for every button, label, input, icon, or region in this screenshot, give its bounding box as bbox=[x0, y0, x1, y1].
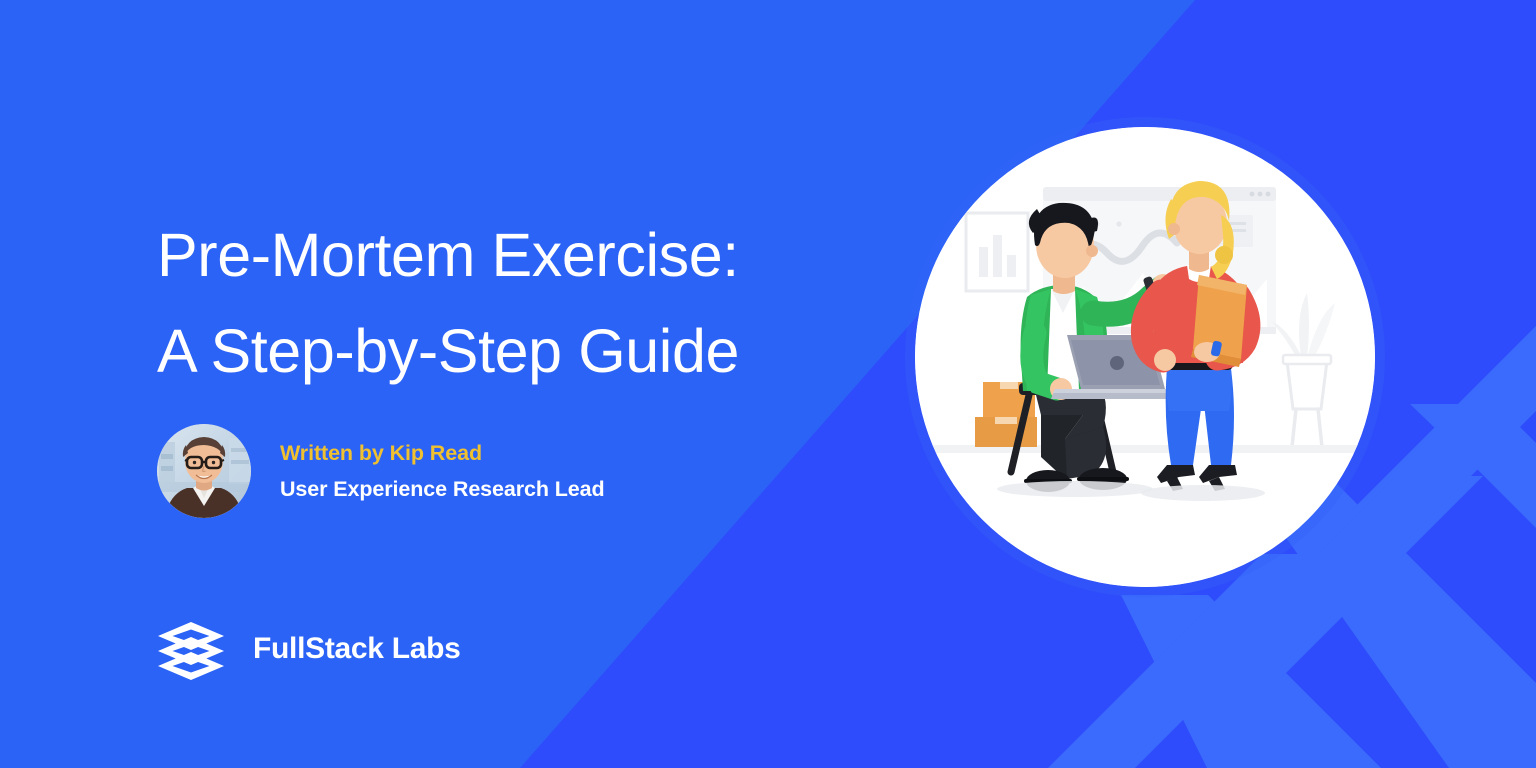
illustration-circle bbox=[915, 127, 1375, 587]
page-title: Pre-Mortem Exercise: A Step-by-Step Guid… bbox=[157, 207, 857, 399]
shadow-woman bbox=[1141, 485, 1265, 501]
author-role-label: User Experience Research Lead bbox=[280, 473, 605, 505]
written-by-label: Written by Kip Read bbox=[280, 437, 605, 469]
author-byline: Written by Kip Read User Experience Rese… bbox=[157, 424, 605, 518]
brand-logo[interactable]: FullStack Labs bbox=[155, 618, 461, 680]
byline-text: Written by Kip Read User Experience Rese… bbox=[280, 437, 605, 505]
stacked-layers-icon bbox=[155, 618, 227, 680]
shadow-man bbox=[997, 481, 1153, 497]
avatar bbox=[157, 424, 251, 518]
title-line-1: Pre-Mortem Exercise: bbox=[157, 207, 857, 303]
illustration-two-colleagues bbox=[915, 127, 1375, 587]
title-line-2: A Step-by-Step Guide bbox=[157, 303, 857, 399]
brand-name-label: FullStack Labs bbox=[253, 632, 461, 666]
wall-picture-frame bbox=[966, 213, 1028, 291]
avatar-photo bbox=[157, 424, 251, 518]
